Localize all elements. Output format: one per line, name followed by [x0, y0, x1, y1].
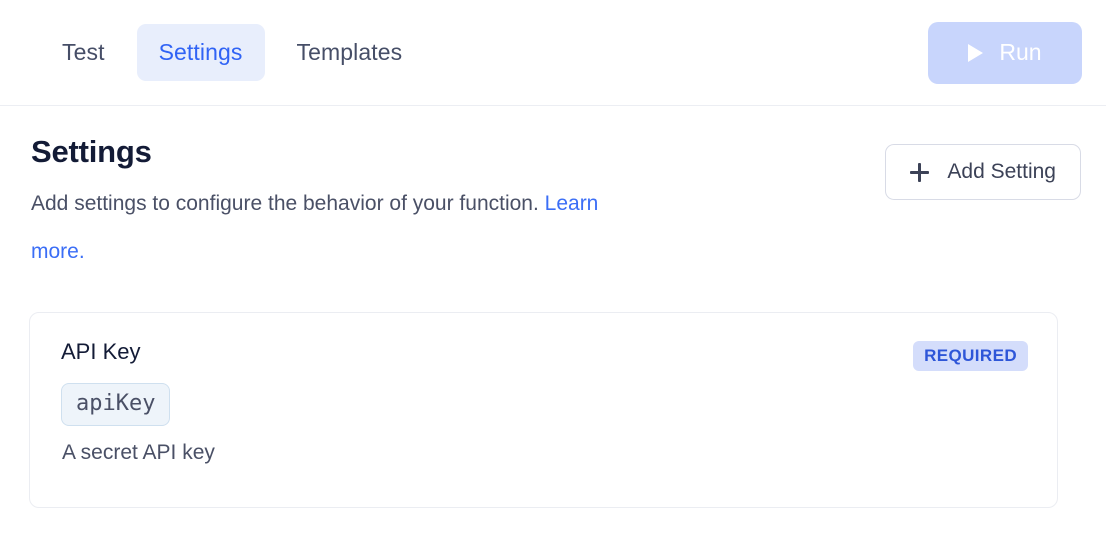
tab-list: Test Settings Templates	[40, 24, 928, 81]
settings-header-text: Settings Add settings to configure the b…	[29, 134, 631, 276]
run-button[interactable]: Run	[928, 22, 1082, 84]
plus-icon	[910, 163, 929, 182]
page-title: Settings	[31, 134, 631, 170]
settings-header-row: Settings Add settings to configure the b…	[29, 134, 1082, 276]
run-button-label: Run	[999, 39, 1041, 66]
status-badge: REQUIRED	[913, 341, 1028, 371]
setting-description: A secret API key	[62, 440, 1026, 465]
add-setting-button[interactable]: Add Setting	[885, 144, 1081, 200]
page-description: Add settings to configure the behavior o…	[31, 180, 631, 276]
tab-settings[interactable]: Settings	[137, 24, 265, 81]
tab-test[interactable]: Test	[40, 24, 127, 81]
setting-card-top: API Key REQUIRED	[61, 339, 1026, 371]
setting-name: API Key	[61, 339, 140, 365]
setting-key-chip: apiKey	[61, 383, 170, 426]
page-description-text: Add settings to configure the behavior o…	[31, 192, 545, 215]
setting-card[interactable]: API Key REQUIRED apiKey A secret API key	[29, 312, 1058, 508]
settings-content: Settings Add settings to configure the b…	[0, 106, 1106, 508]
tab-templates[interactable]: Templates	[275, 24, 425, 81]
play-icon	[968, 44, 983, 62]
add-setting-label: Add Setting	[947, 160, 1056, 184]
tab-bar: Test Settings Templates Run	[0, 0, 1106, 106]
